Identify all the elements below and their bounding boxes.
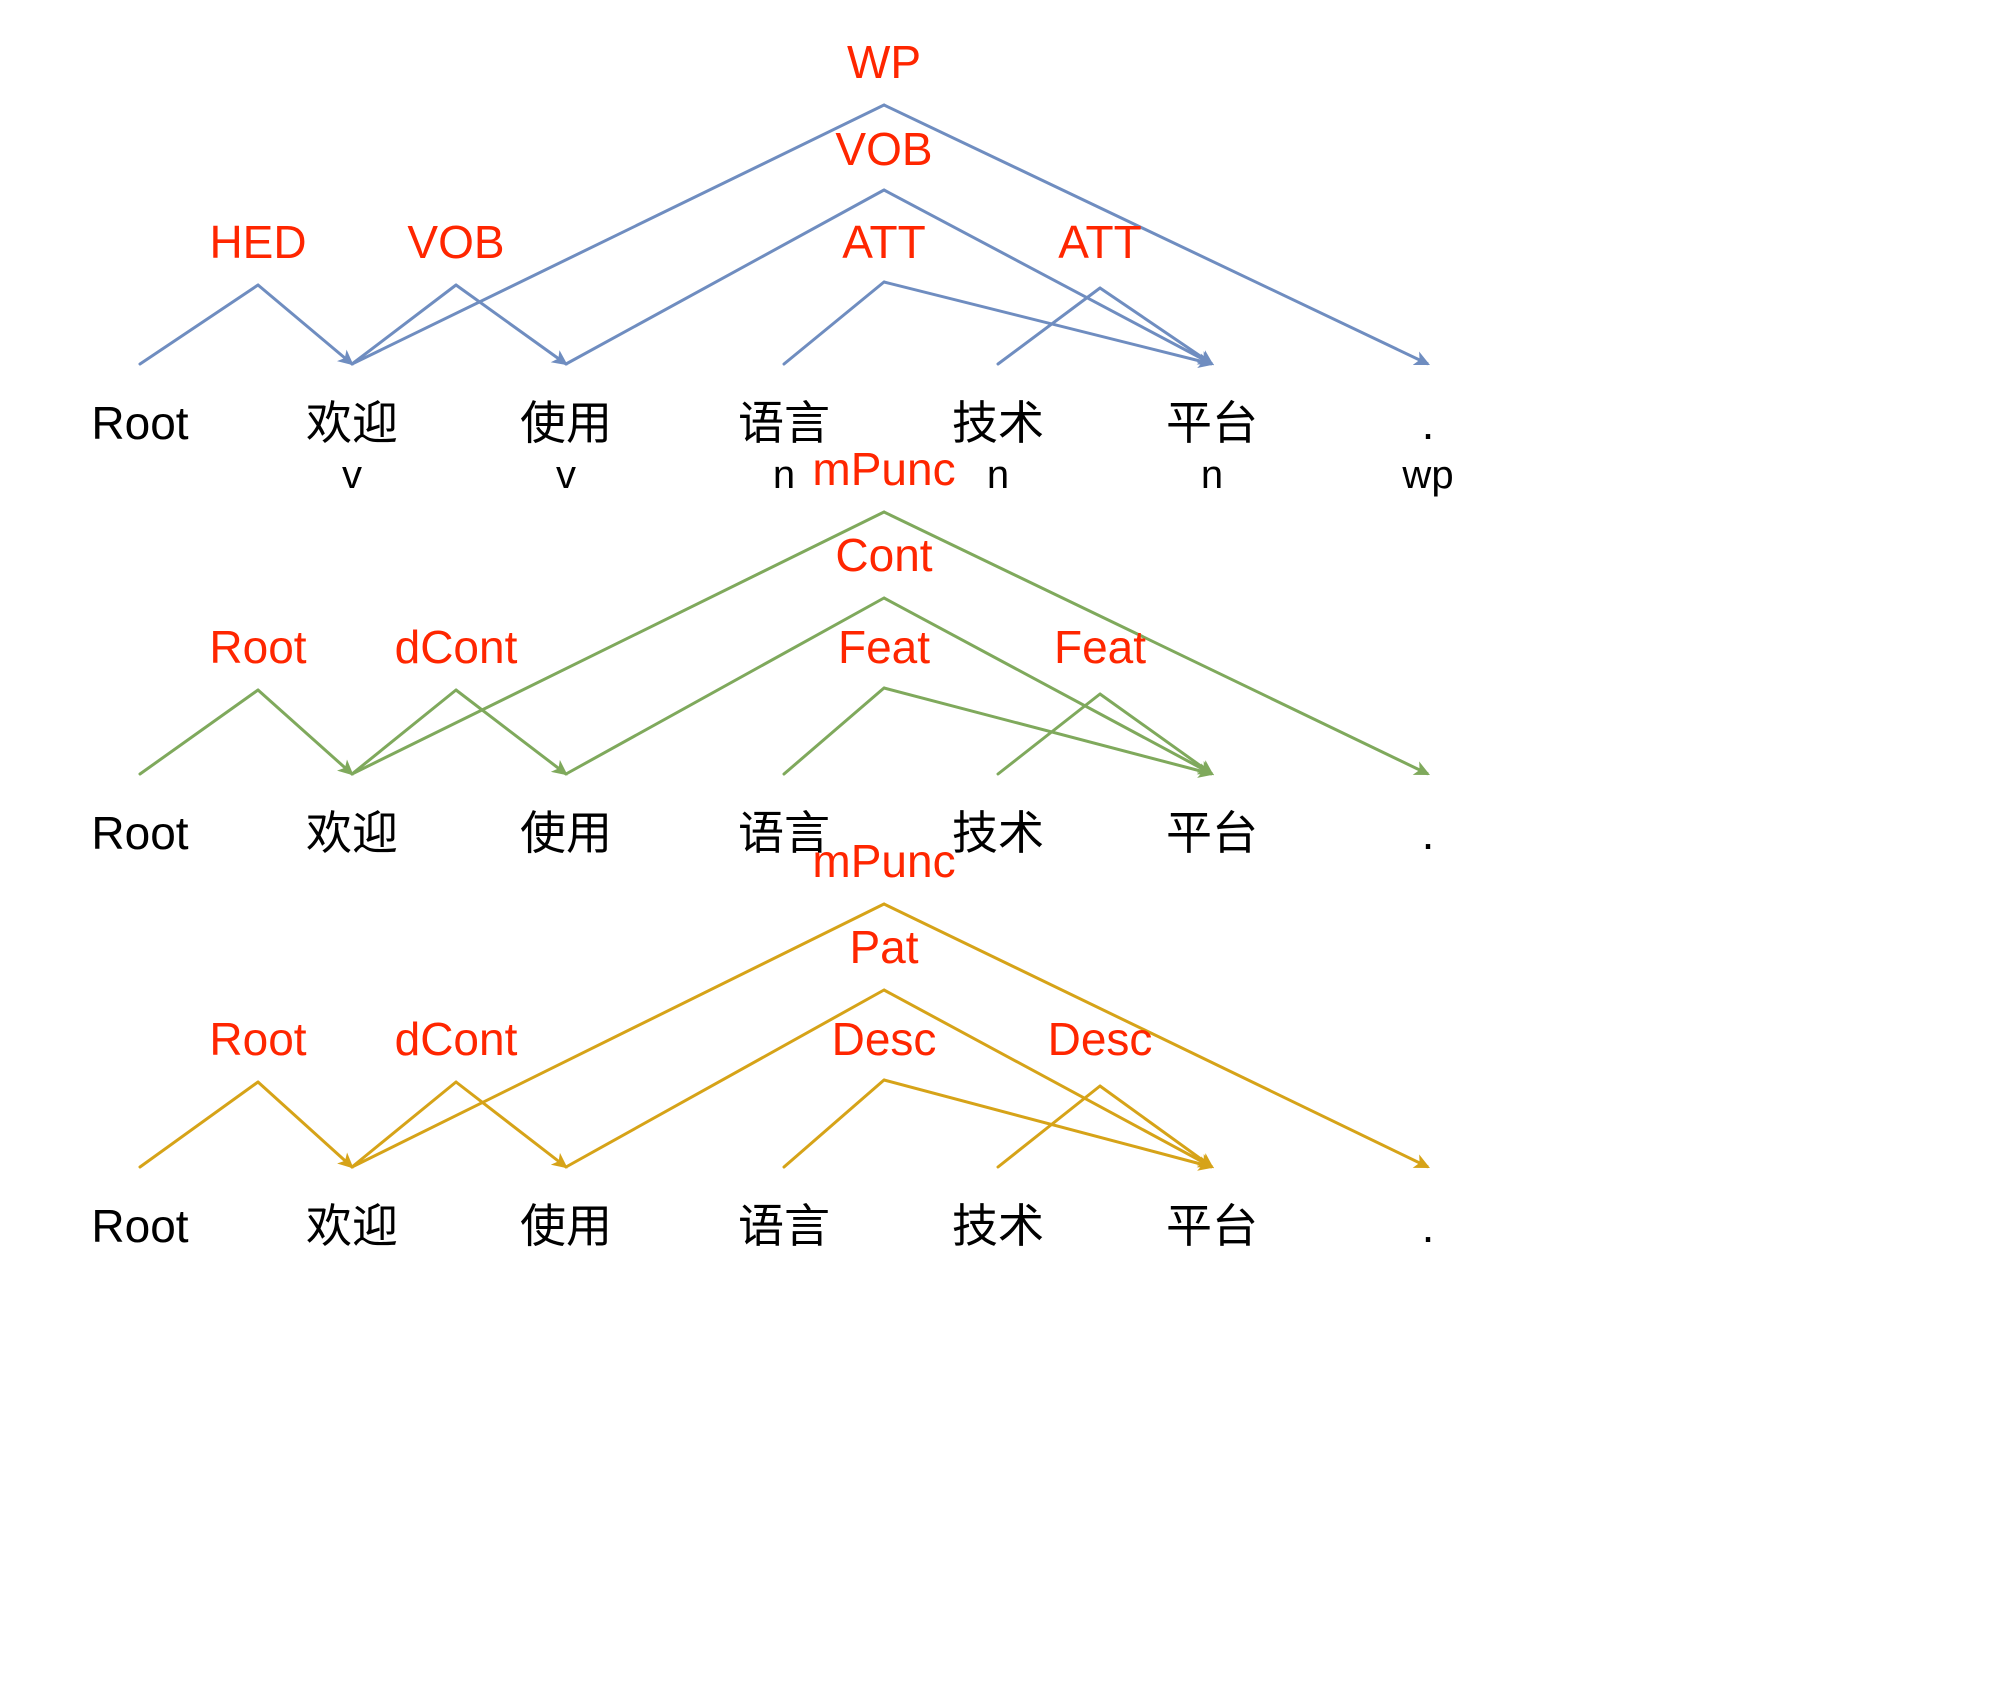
token-word: 使用	[520, 810, 612, 856]
token-word: 语言	[738, 1203, 830, 1249]
dependency-edge-ascender	[140, 690, 258, 774]
dependency-edge-descender	[884, 1080, 1212, 1167]
relation-label-cont: Cont	[835, 532, 932, 578]
dependency-edge-ascender	[566, 190, 884, 364]
dependency-trees-figure: HEDVOBATTATTVOBWPRoot欢迎v使用v语言n技术n平台n.wpR…	[0, 0, 1999, 1692]
relation-label-feat: Feat	[1054, 624, 1146, 670]
token-pos-tag: v	[556, 455, 576, 495]
token-word: 平台	[1166, 1203, 1258, 1249]
dependency-edge-descender	[258, 690, 352, 774]
relation-label-vob: VOB	[835, 126, 932, 172]
token-word: Root	[91, 810, 188, 856]
dependency-edge-descender	[1100, 288, 1212, 364]
dependency-edge-ascender	[784, 1080, 884, 1167]
token-word: 平台	[1166, 810, 1258, 856]
dependency-edge-ascender	[784, 282, 884, 364]
dependency-edge-ascender	[140, 285, 258, 364]
token-pos-tag: n	[1201, 455, 1223, 495]
relation-label-vob: VOB	[407, 219, 504, 265]
dependency-edge-ascender	[998, 288, 1100, 364]
relation-label-wp: WP	[847, 39, 921, 85]
relation-label-pat: Pat	[849, 924, 918, 970]
relation-label-feat: Feat	[838, 624, 930, 670]
relation-label-att: ATT	[842, 219, 925, 265]
token-pos-tag: v	[342, 455, 362, 495]
dependency-edge-descender	[456, 1082, 566, 1167]
token-word: 技术	[952, 400, 1044, 446]
dependency-edge-descender	[884, 688, 1212, 774]
dependency-edge-descender	[258, 285, 352, 364]
relation-label-desc: Desc	[832, 1016, 937, 1062]
relation-label-desc: Desc	[1048, 1016, 1153, 1062]
semantic-role-tree-edges	[140, 904, 1428, 1167]
token-word: 技术	[952, 1203, 1044, 1249]
relation-label-root: Root	[209, 1016, 306, 1062]
token-word: 欢迎	[306, 400, 398, 446]
relation-label-dcont: dCont	[395, 624, 518, 670]
dependency-edge-ascender	[352, 285, 456, 364]
syntactic-dependency-tree-edges	[140, 105, 1428, 364]
relation-label-att: ATT	[1058, 219, 1141, 265]
relation-label-hed: HED	[209, 219, 306, 265]
token-word: .	[1422, 400, 1435, 446]
token-word: 欢迎	[306, 1203, 398, 1249]
dependency-edge-descender	[258, 1082, 352, 1167]
token-word: .	[1422, 810, 1435, 856]
dependency-edge-descender	[884, 282, 1212, 364]
dependency-edge-descender	[1100, 1086, 1212, 1167]
token-pos-tag: n	[987, 455, 1009, 495]
token-word: 技术	[952, 810, 1044, 856]
dependency-edge-descender	[456, 285, 566, 364]
token-word: Root	[91, 400, 188, 446]
dependency-edge-ascender	[140, 1082, 258, 1167]
dependency-edge-descender	[456, 690, 566, 774]
token-word: 欢迎	[306, 810, 398, 856]
token-word: .	[1422, 1203, 1435, 1249]
semantic-dependency-tree-edges	[140, 512, 1428, 774]
token-pos-tag: wp	[1402, 455, 1453, 495]
token-word: 使用	[520, 400, 612, 446]
dependency-edge-ascender	[566, 598, 884, 774]
token-word: 使用	[520, 1203, 612, 1249]
relation-label-root: Root	[209, 624, 306, 670]
relation-label-mpunc: mPunc	[812, 446, 955, 492]
dependency-edge-ascender	[784, 688, 884, 774]
token-pos-tag: n	[773, 455, 795, 495]
dependency-edge-descender	[884, 190, 1212, 364]
dependency-edge-descender	[884, 598, 1212, 774]
relation-label-mpunc: mPunc	[812, 838, 955, 884]
token-word: Root	[91, 1203, 188, 1249]
relation-label-dcont: dCont	[395, 1016, 518, 1062]
token-word: 平台	[1166, 400, 1258, 446]
token-word: 语言	[738, 400, 830, 446]
dependency-edge-descender	[1100, 694, 1212, 774]
